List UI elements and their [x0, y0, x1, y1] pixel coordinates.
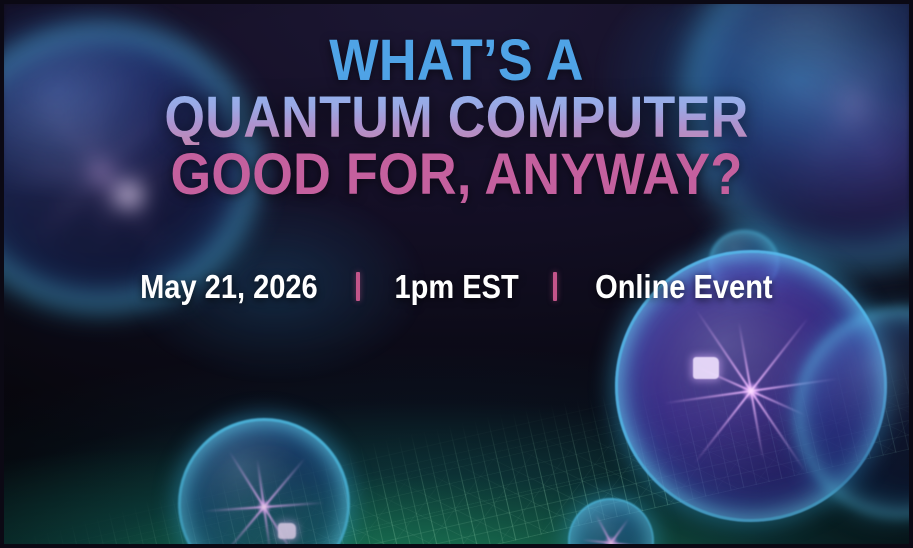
headline-block: WHAT’S A QUANTUM COMPUTER GOOD FOR, ANYW… — [4, 34, 909, 202]
event-date: May 21, 2026 — [140, 270, 318, 303]
banner-content: WHAT’S A QUANTUM COMPUTER GOOD FOR, ANYW… — [4, 4, 909, 544]
event-details-row: May 21, 2026 1pm EST Online Event — [4, 270, 909, 303]
headline-line-1: WHAT’S A — [49, 34, 864, 88]
event-format: Online Event — [595, 270, 773, 303]
detail-separator-1 — [356, 272, 360, 301]
event-time: 1pm EST — [394, 270, 518, 303]
event-banner: WHAT’S A QUANTUM COMPUTER GOOD FOR, ANYW… — [0, 0, 913, 548]
headline-line-3: GOOD FOR, ANYWAY? — [49, 148, 864, 202]
headline-line-2: QUANTUM COMPUTER — [49, 91, 864, 145]
detail-separator-2 — [553, 272, 557, 301]
